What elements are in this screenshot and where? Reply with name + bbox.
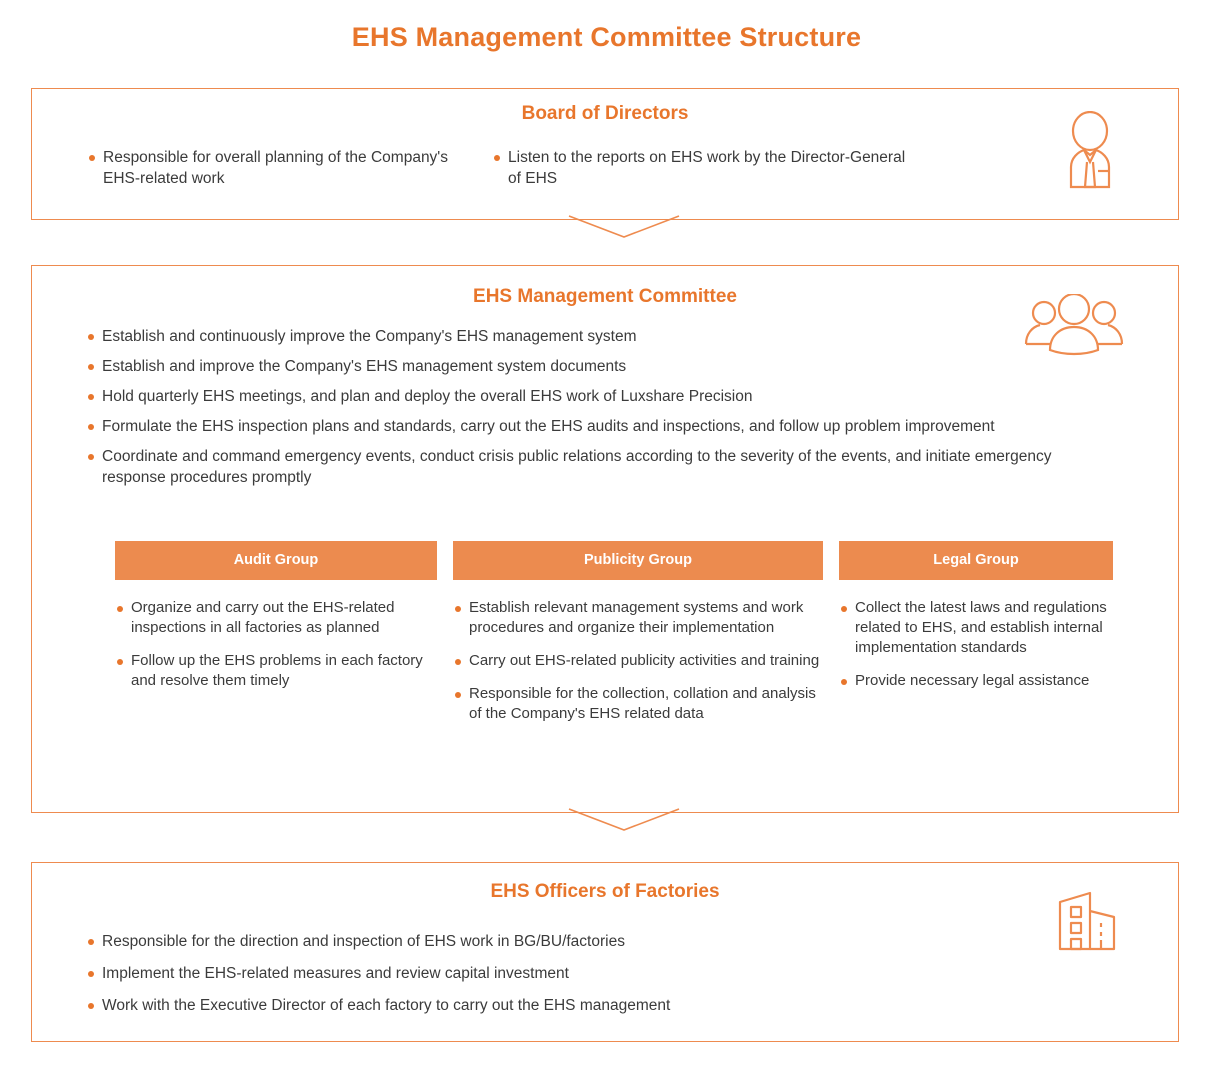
- list-item: Follow up the EHS problems in each facto…: [115, 651, 437, 691]
- board-of-directors-card: Board of Directors Responsible for overa…: [31, 88, 1179, 220]
- list-item: Establish and improve the Company's EHS …: [86, 356, 1118, 377]
- committee-bullet-list: Establish and continuously improve the C…: [32, 326, 1178, 488]
- group-header-legal: Legal Group: [839, 541, 1113, 580]
- group-of-people-icon: [1020, 294, 1128, 361]
- officers-bullet-list: Responsible for the direction and inspec…: [32, 931, 1178, 1016]
- list-item: Collect the latest laws and regulations …: [839, 598, 1113, 658]
- list-item: Listen to the reports on EHS work by the…: [492, 147, 912, 189]
- list-item: Hold quarterly EHS meetings, and plan an…: [86, 386, 1118, 407]
- list-item: Carry out EHS-related publicity activiti…: [453, 651, 823, 671]
- ehs-officers-of-factories-card: EHS Officers of Factories Responsible fo…: [31, 862, 1179, 1042]
- ehs-management-committee-card: EHS Management Committee Establish and c…: [31, 265, 1179, 813]
- list-item: Provide necessary legal assistance: [839, 671, 1113, 691]
- list-item: Responsible for overall planning of the …: [87, 147, 452, 189]
- ehs-management-committee-heading: EHS Management Committee: [32, 286, 1178, 308]
- committee-subgroups: Audit Group Organize and carry out the E…: [115, 541, 1115, 737]
- list-item: Establish relevant management systems an…: [453, 598, 823, 638]
- group-header-audit: Audit Group: [115, 541, 437, 580]
- list-item: Responsible for the direction and inspec…: [86, 931, 1178, 952]
- board-bullets-right: Listen to the reports on EHS work by the…: [492, 147, 912, 189]
- page-title: EHS Management Committee Structure: [0, 22, 1213, 53]
- board-of-directors-columns: Responsible for overall planning of the …: [32, 147, 1178, 189]
- group-column-audit: Audit Group Organize and carry out the E…: [115, 541, 437, 737]
- group-column-legal: Legal Group Collect the latest laws and …: [839, 541, 1113, 737]
- list-item: Organize and carry out the EHS-related i…: [115, 598, 437, 638]
- ehs-structure-diagram: EHS Management Committee Structure Board…: [0, 0, 1213, 1073]
- list-item: Responsible for the collection, collatio…: [453, 684, 823, 724]
- group-header-publicity: Publicity Group: [453, 541, 823, 580]
- ehs-officers-heading: EHS Officers of Factories: [32, 881, 1178, 903]
- person-in-suit-icon: [1057, 111, 1123, 194]
- list-item: Implement the EHS-related measures and r…: [86, 963, 1178, 984]
- list-item: Formulate the EHS inspection plans and s…: [86, 416, 1118, 437]
- list-item: Work with the Executive Director of each…: [86, 995, 1178, 1016]
- connector-chevron-committee: [32, 809, 1180, 833]
- list-item: Coordinate and command emergency events,…: [86, 446, 1118, 488]
- group-column-publicity: Publicity Group Establish relevant manag…: [453, 541, 823, 737]
- board-of-directors-heading: Board of Directors: [32, 103, 1178, 125]
- connector-chevron-board: [32, 216, 1180, 240]
- board-bullets-left: Responsible for overall planning of the …: [87, 147, 452, 189]
- factory-building-icon: [1044, 887, 1122, 962]
- list-item: Establish and continuously improve the C…: [86, 326, 1118, 347]
